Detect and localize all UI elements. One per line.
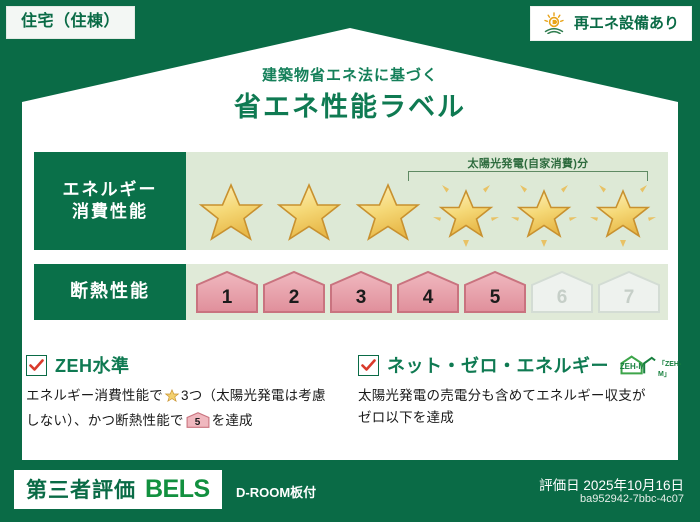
star-icon-solar <box>586 177 660 247</box>
property-name: D-ROOM板付 <box>236 482 316 501</box>
svg-text:ZEH-M: ZEH-M <box>620 362 646 371</box>
insulation-level-2: 2 <box>261 268 327 316</box>
insulation-level-list: 1 2 3 4 <box>186 264 668 320</box>
criterion-nze-header: ネット・ゼロ・エネルギー ZEH-M 「ZEH-M」 <box>358 352 658 378</box>
energy-performance-row: エネルギー 消費性能 太陽光発電(自家消費)分 <box>34 152 668 250</box>
insulation-level-5: 5 <box>462 268 528 316</box>
energy-performance-label: 住宅（住棟） 再エネ設備あり 建築物省エネ法 <box>0 0 700 522</box>
star-icon-solar <box>429 177 503 247</box>
renewable-energy-badge: 再エネ設備あり <box>530 6 692 41</box>
star-icon <box>272 177 346 247</box>
insulation-level-6: 6 <box>529 268 595 316</box>
zeh-m-logo-caption: 「ZEH-M」 <box>658 359 688 379</box>
insulation-performance-label-box: 断熱性能 <box>34 264 186 320</box>
criterion-nze-body: 太陽光発電の売電分も含めてエネルギー収支がゼロ以下を達成 <box>358 385 658 429</box>
energy-performance-label-box: エネルギー 消費性能 <box>34 152 186 250</box>
bels-logo-text: BELS <box>145 475 210 504</box>
criterion-zeh-body: エネルギー消費性能で3つ（太陽光発電は考慮しない）、かつ断熱性能で5を達成 <box>26 385 326 432</box>
energy-label-line2: 消費性能 <box>72 201 148 223</box>
insulation-badge-icon: 5 <box>186 411 210 429</box>
energy-label-line1: エネルギー <box>63 179 158 201</box>
star-icon <box>164 391 180 406</box>
criterion-zeh-text-1: エネルギー消費性能で <box>26 388 163 403</box>
criterion-nze-title: ネット・ゼロ・エネルギー <box>387 352 609 378</box>
insulation-level-value: 2 <box>261 287 327 309</box>
check-icon <box>358 355 379 376</box>
evaluation-id: ba952942-7bbc-4c07 <box>580 493 684 505</box>
renewable-energy-label: 再エネ設備あり <box>574 16 679 31</box>
building-type-badge: 住宅（住棟） <box>6 6 135 39</box>
energy-star-rating: 太陽光発電(自家消費)分 <box>186 152 668 250</box>
zeh-m-logo-icon: ZEH-M 「ZEH-M」 <box>619 351 688 379</box>
insulation-label: 断熱性能 <box>70 280 150 303</box>
footer-divider <box>26 460 674 462</box>
insulation-performance-row: 断熱性能 1 <box>34 264 668 320</box>
insulation-level-7: 7 <box>596 268 662 316</box>
star-icon <box>194 177 268 247</box>
third-party-eval-label: 第三者評価 <box>26 474 136 504</box>
page-title: 省エネ性能ラベル <box>0 85 700 124</box>
star-icon <box>351 177 425 247</box>
check-icon <box>26 355 47 376</box>
insulation-badge-value: 5 <box>186 415 210 431</box>
building-type-label: 住宅（住棟） <box>21 13 120 30</box>
insulation-rating: 1 2 3 4 <box>186 264 668 320</box>
criterion-zeh-header: ZEH水準 <box>26 352 326 378</box>
sun-renewable-icon <box>541 12 567 34</box>
criterion-zeh: ZEH水準 エネルギー消費性能で3つ（太陽光発電は考慮しない）、かつ断熱性能で5… <box>26 352 326 432</box>
criterion-net-zero-energy: ネット・ゼロ・エネルギー ZEH-M 「ZEH-M」 太陽光発電の売電分も含めて… <box>358 352 658 429</box>
insulation-level-value: 4 <box>395 287 461 309</box>
insulation-level-1: 1 <box>194 268 260 316</box>
insulation-level-3: 3 <box>328 268 394 316</box>
insulation-level-value: 5 <box>462 287 528 309</box>
insulation-level-value: 1 <box>194 287 260 309</box>
evaluation-date: 評価日 2025年10月16日 <box>539 474 684 494</box>
label-subtitle: 建築物省エネ法に基づく <box>0 64 700 85</box>
insulation-level-4: 4 <box>395 268 461 316</box>
criterion-zeh-text-3: を達成 <box>212 413 253 428</box>
criterion-zeh-title: ZEH水準 <box>55 352 130 378</box>
insulation-level-value: 3 <box>328 287 394 309</box>
footer: 第三者評価 BELS D-ROOM板付 評価日 2025年10月16日 ba95… <box>0 466 700 522</box>
solar-self-consumption-caption: 太陽光発電(自家消費)分 <box>408 155 648 171</box>
bels-plate: 第三者評価 BELS <box>14 470 222 509</box>
star-list <box>186 174 668 250</box>
insulation-level-value: 6 <box>529 287 595 309</box>
insulation-level-value: 7 <box>596 287 662 309</box>
star-icon-solar <box>507 177 581 247</box>
